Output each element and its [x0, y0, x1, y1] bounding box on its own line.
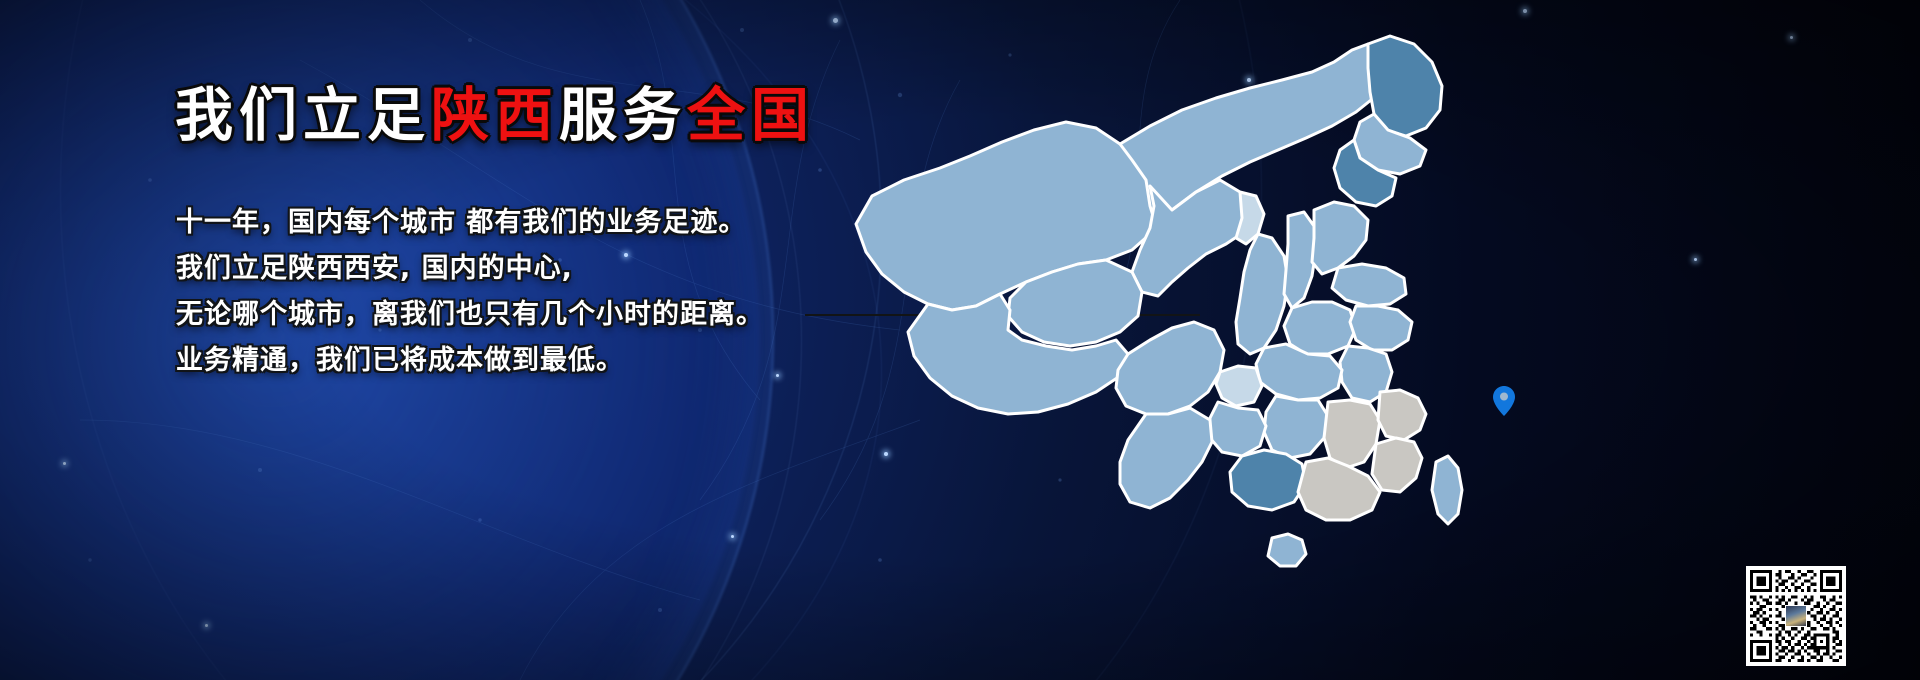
province-chongqing — [1216, 366, 1262, 406]
page-title: 我们立足陕西服务全国 — [175, 86, 815, 144]
province-guizhou — [1210, 402, 1266, 456]
province-zhejiang — [1378, 390, 1426, 440]
province-jiangsu — [1350, 306, 1412, 350]
star-3 — [1523, 9, 1527, 13]
province-hainan — [1268, 534, 1306, 566]
star-11 — [731, 535, 734, 538]
province-guangdong — [1298, 458, 1380, 520]
body-line-2: 我们立足陕西西安, 国内的中心, — [176, 246, 876, 292]
star-10 — [63, 462, 66, 465]
province-shaanxi — [1236, 234, 1288, 354]
province-taiwan — [1432, 456, 1462, 524]
province-henan — [1284, 302, 1356, 354]
headline-segment-2-highlight: 陕西 — [431, 81, 559, 149]
headline-segment-3: 服务 — [559, 81, 687, 149]
body-line-4: 业务精通，我们已将成本做到最低。 — [176, 338, 876, 384]
province-shandong — [1332, 264, 1406, 306]
star-4 — [1790, 36, 1793, 39]
province-jiangxi — [1324, 400, 1380, 468]
body-line-3: 无论哪个城市，离我们也只有几个小时的距离。 — [176, 292, 876, 338]
qr-center-logo — [1785, 605, 1807, 627]
province-guangxi — [1230, 450, 1306, 510]
headline-segment-1: 我们立足 — [175, 81, 431, 149]
body-line-1: 十一年，国内每个城市 都有我们的业务足迹。 — [176, 200, 876, 246]
qr-code[interactable] — [1746, 566, 1846, 666]
headline-segment-4-highlight: 全国 — [687, 81, 815, 149]
body-copy: 十一年，国内每个城市 都有我们的业务足迹。 我们立足陕西西安, 国内的中心, 无… — [176, 200, 876, 384]
promo-banner: 我们立足陕西服务全国 十一年，国内每个城市 都有我们的业务足迹。 我们立足陕西西… — [0, 0, 1920, 680]
province-yunnan — [1120, 408, 1212, 508]
star-9 — [205, 624, 208, 627]
province-hunan — [1264, 396, 1328, 458]
location-pin-icon — [1493, 386, 1515, 416]
star-12 — [1694, 258, 1697, 261]
province-sichuan — [1116, 322, 1224, 414]
province-fujian — [1372, 438, 1422, 492]
china-map — [820, 10, 1520, 670]
